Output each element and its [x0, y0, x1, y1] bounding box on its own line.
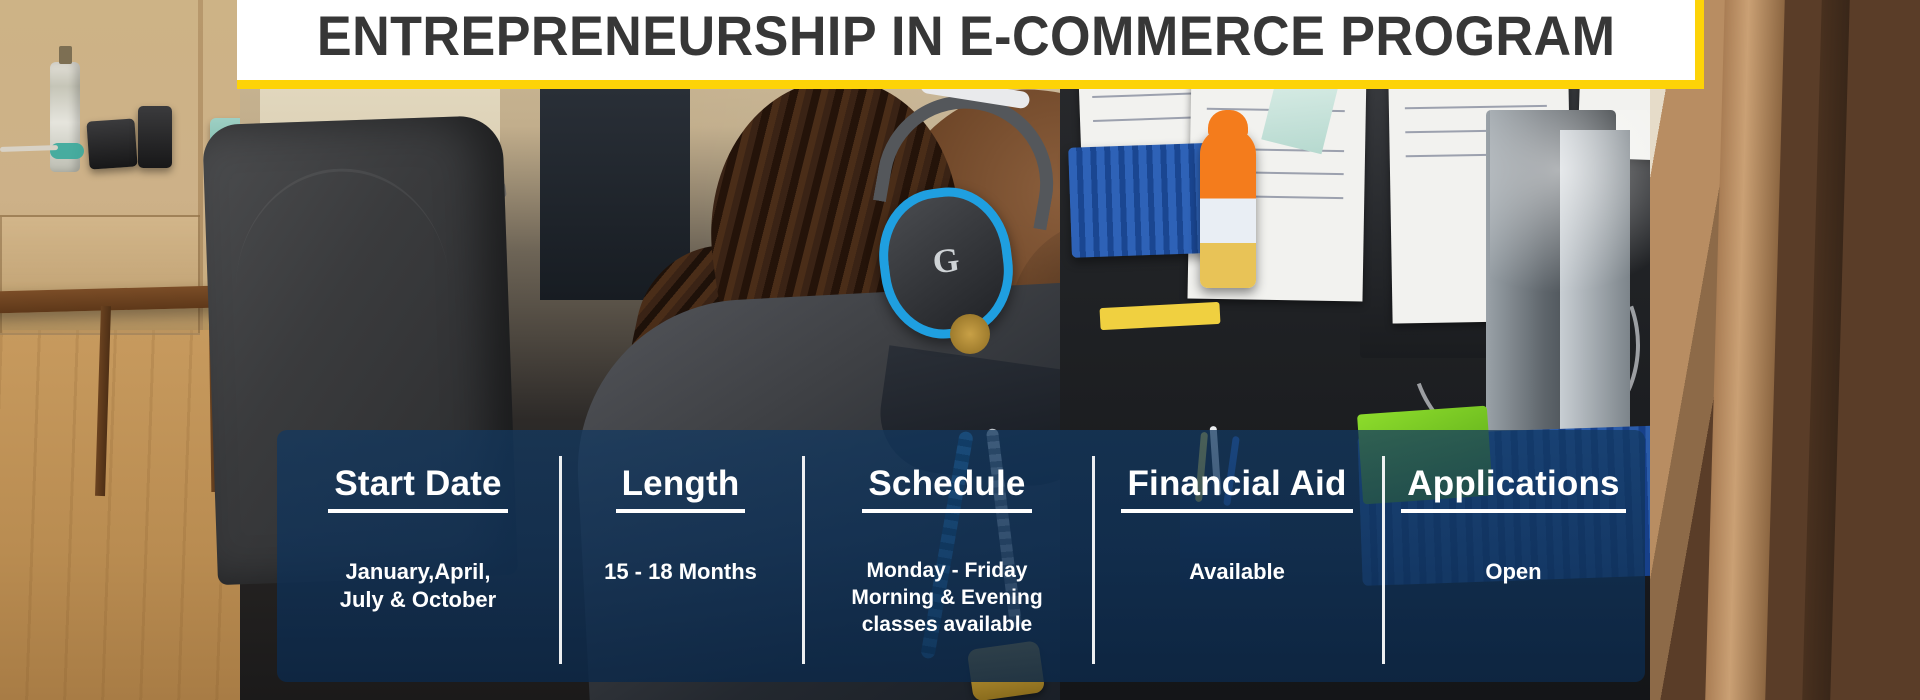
speaker: [86, 118, 137, 169]
info-column-start-date: Start Date January,April, July & October: [277, 430, 559, 682]
yellow-folder: [1100, 302, 1221, 330]
info-heading-length: Length: [616, 464, 746, 513]
hero-banner-stage: ENTREPRENEURSHIP IN E-COMMERCE PROGRAM S…: [0, 0, 1920, 700]
info-heading-financial-aid: Financial Aid: [1121, 464, 1352, 513]
info-heading-schedule: Schedule: [862, 464, 1031, 513]
program-info-bar: Start Date January,April, July & October…: [277, 430, 1645, 682]
page-title: ENTREPRENEURSHIP IN E-COMMERCE PROGRAM: [317, 3, 1616, 68]
room-right-doorframe: [1650, 0, 1920, 700]
info-value-schedule: Monday - Friday Morning & Evening classe…: [851, 558, 1042, 639]
speaker: [138, 106, 172, 168]
info-column-schedule: Schedule Monday - Friday Morning & Eveni…: [802, 430, 1092, 682]
info-value-start-date: January,April, July & October: [340, 558, 496, 614]
info-heading-start-date: Start Date: [328, 464, 507, 513]
info-value-length: 15 - 18 Months: [604, 558, 757, 586]
title-banner: ENTREPRENEURSHIP IN E-COMMERCE PROGRAM: [237, 0, 1704, 89]
info-heading-applications: Applications: [1401, 464, 1625, 513]
info-value-financial-aid: Available: [1189, 558, 1285, 586]
shirt-logo: [950, 314, 990, 354]
info-column-applications: Applications Open: [1382, 430, 1645, 682]
info-column-length: Length 15 - 18 Months: [559, 430, 802, 682]
info-value-applications: Open: [1485, 558, 1541, 586]
info-column-financial-aid: Financial Aid Available: [1092, 430, 1382, 682]
air-freshener-can: [1200, 128, 1256, 288]
